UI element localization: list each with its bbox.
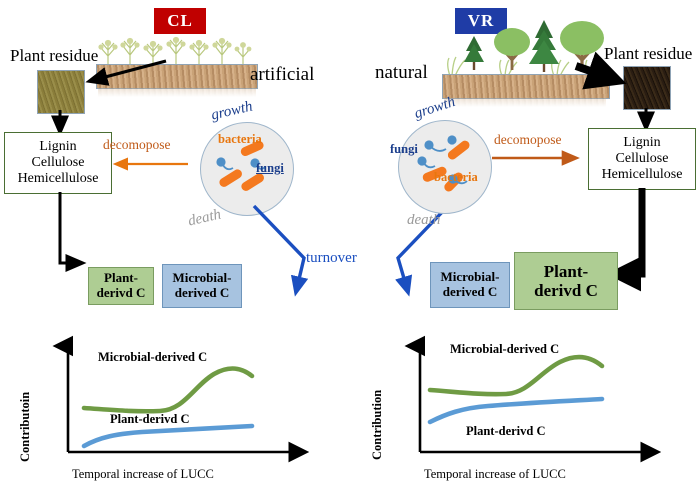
pool-plant-label-top-left: Plant- xyxy=(104,270,138,285)
soil-reflection-vr xyxy=(444,98,606,107)
chem-line-lignin-right: Lignin xyxy=(623,135,660,151)
pool-plant-label-bottom-left: derivd C xyxy=(97,285,146,300)
conifer-tall-icon xyxy=(529,20,559,72)
chart-vr: Contribution Microbial-derived C Plant-d… xyxy=(360,330,690,490)
pool-microbial-label-bottom-left: derived C xyxy=(175,285,230,300)
chart-vr-series-plant-label: Plant-derivd C xyxy=(466,424,546,439)
arrow-decompose-left xyxy=(108,158,190,170)
pool-microbial-label-top-right: Microbial- xyxy=(441,269,500,284)
curve-microbial-derived-vr xyxy=(430,357,602,394)
chem-line-lignin-left: Lignin xyxy=(39,139,76,155)
plant-residue-swatch-left xyxy=(37,70,85,114)
pool-plant-derived-right: Plant- derivd C xyxy=(514,252,618,310)
death-label-left: death xyxy=(187,206,223,230)
pool-microbial-label-bottom-right: derived C xyxy=(443,284,498,299)
pool-microbial-derived-right: Microbial- derived C xyxy=(430,262,510,308)
decompose-label-right: decomopose xyxy=(494,132,561,148)
chart-cl-series-plant-label: Plant-derivd C xyxy=(110,412,190,427)
curve-plant-derived-cl xyxy=(84,426,252,446)
fungi-label-left: fungi xyxy=(256,161,284,176)
chem-line-cellulose-left: Cellulose xyxy=(32,155,85,171)
chem-box-left: Lignin Cellulose Hemicellulose xyxy=(4,132,112,194)
arrow-chem-to-plantpool-left xyxy=(52,192,112,272)
curve-microbial-derived-cl xyxy=(84,368,252,411)
pool-microbial-derived-left: Microbial- derived C xyxy=(162,264,242,308)
pool-plant-label-top-right: Plant- xyxy=(544,262,588,281)
chart-cl-ylabel: Contributoin xyxy=(18,352,33,462)
chart-vr-xlabel: Temporal increase of LUCC xyxy=(424,467,566,482)
growth-label-left: growth xyxy=(210,98,255,124)
arrow-decompose-right xyxy=(490,152,586,164)
pool-plant-label-bottom-right: derivd C xyxy=(534,281,598,300)
decompose-label-left: decomopose xyxy=(103,137,170,153)
arrow-soil-to-residue-right xyxy=(572,60,630,94)
pool-microbial-label-top-left: Microbial- xyxy=(173,270,232,285)
arrow-soil-to-residue-left xyxy=(80,58,170,90)
chem-line-hemicellulose-right: Hemicellulose xyxy=(602,167,683,183)
turnover-label: turnover xyxy=(306,250,357,267)
bacteria-label-left: bacteria xyxy=(218,132,262,147)
panel-badge-cl: CL xyxy=(154,8,206,34)
chart-cl: Contributoin Microbial-derived C Plant-d… xyxy=(10,330,340,490)
chart-cl-series-microbial-label: Microbial-derived C xyxy=(98,350,207,365)
chart-vr-series-microbial-label: Microbial-derived C xyxy=(450,342,559,357)
growth-label-right: growth xyxy=(412,94,457,123)
fungi-label-right: fungi xyxy=(390,142,418,157)
chem-line-cellulose-right: Cellulose xyxy=(616,151,669,167)
chart-cl-xlabel: Temporal increase of LUCC xyxy=(72,467,214,482)
landscape-label-artificial: artificial xyxy=(250,64,314,86)
curve-plant-derived-vr xyxy=(430,399,602,422)
bacteria-label-right: bacteria xyxy=(434,170,478,185)
chem-line-hemicellulose-left: Hemicellulose xyxy=(18,171,99,187)
conifer-small-icon xyxy=(464,36,484,70)
landscape-label-natural: natural xyxy=(375,62,428,84)
pool-plant-derived-left: Plant- derivd C xyxy=(88,267,154,305)
chem-box-right: Lignin Cellulose Hemicellulose xyxy=(588,128,696,190)
microbes-icon-right xyxy=(398,120,490,212)
microbe-circle-left: bacteria fungi xyxy=(200,122,294,216)
death-label-right: death xyxy=(407,212,440,229)
chart-vr-ylabel: Contribution xyxy=(370,356,385,460)
plant-residue-swatch-right xyxy=(623,66,671,110)
microbe-circle-right: fungi bacteria xyxy=(398,120,492,214)
